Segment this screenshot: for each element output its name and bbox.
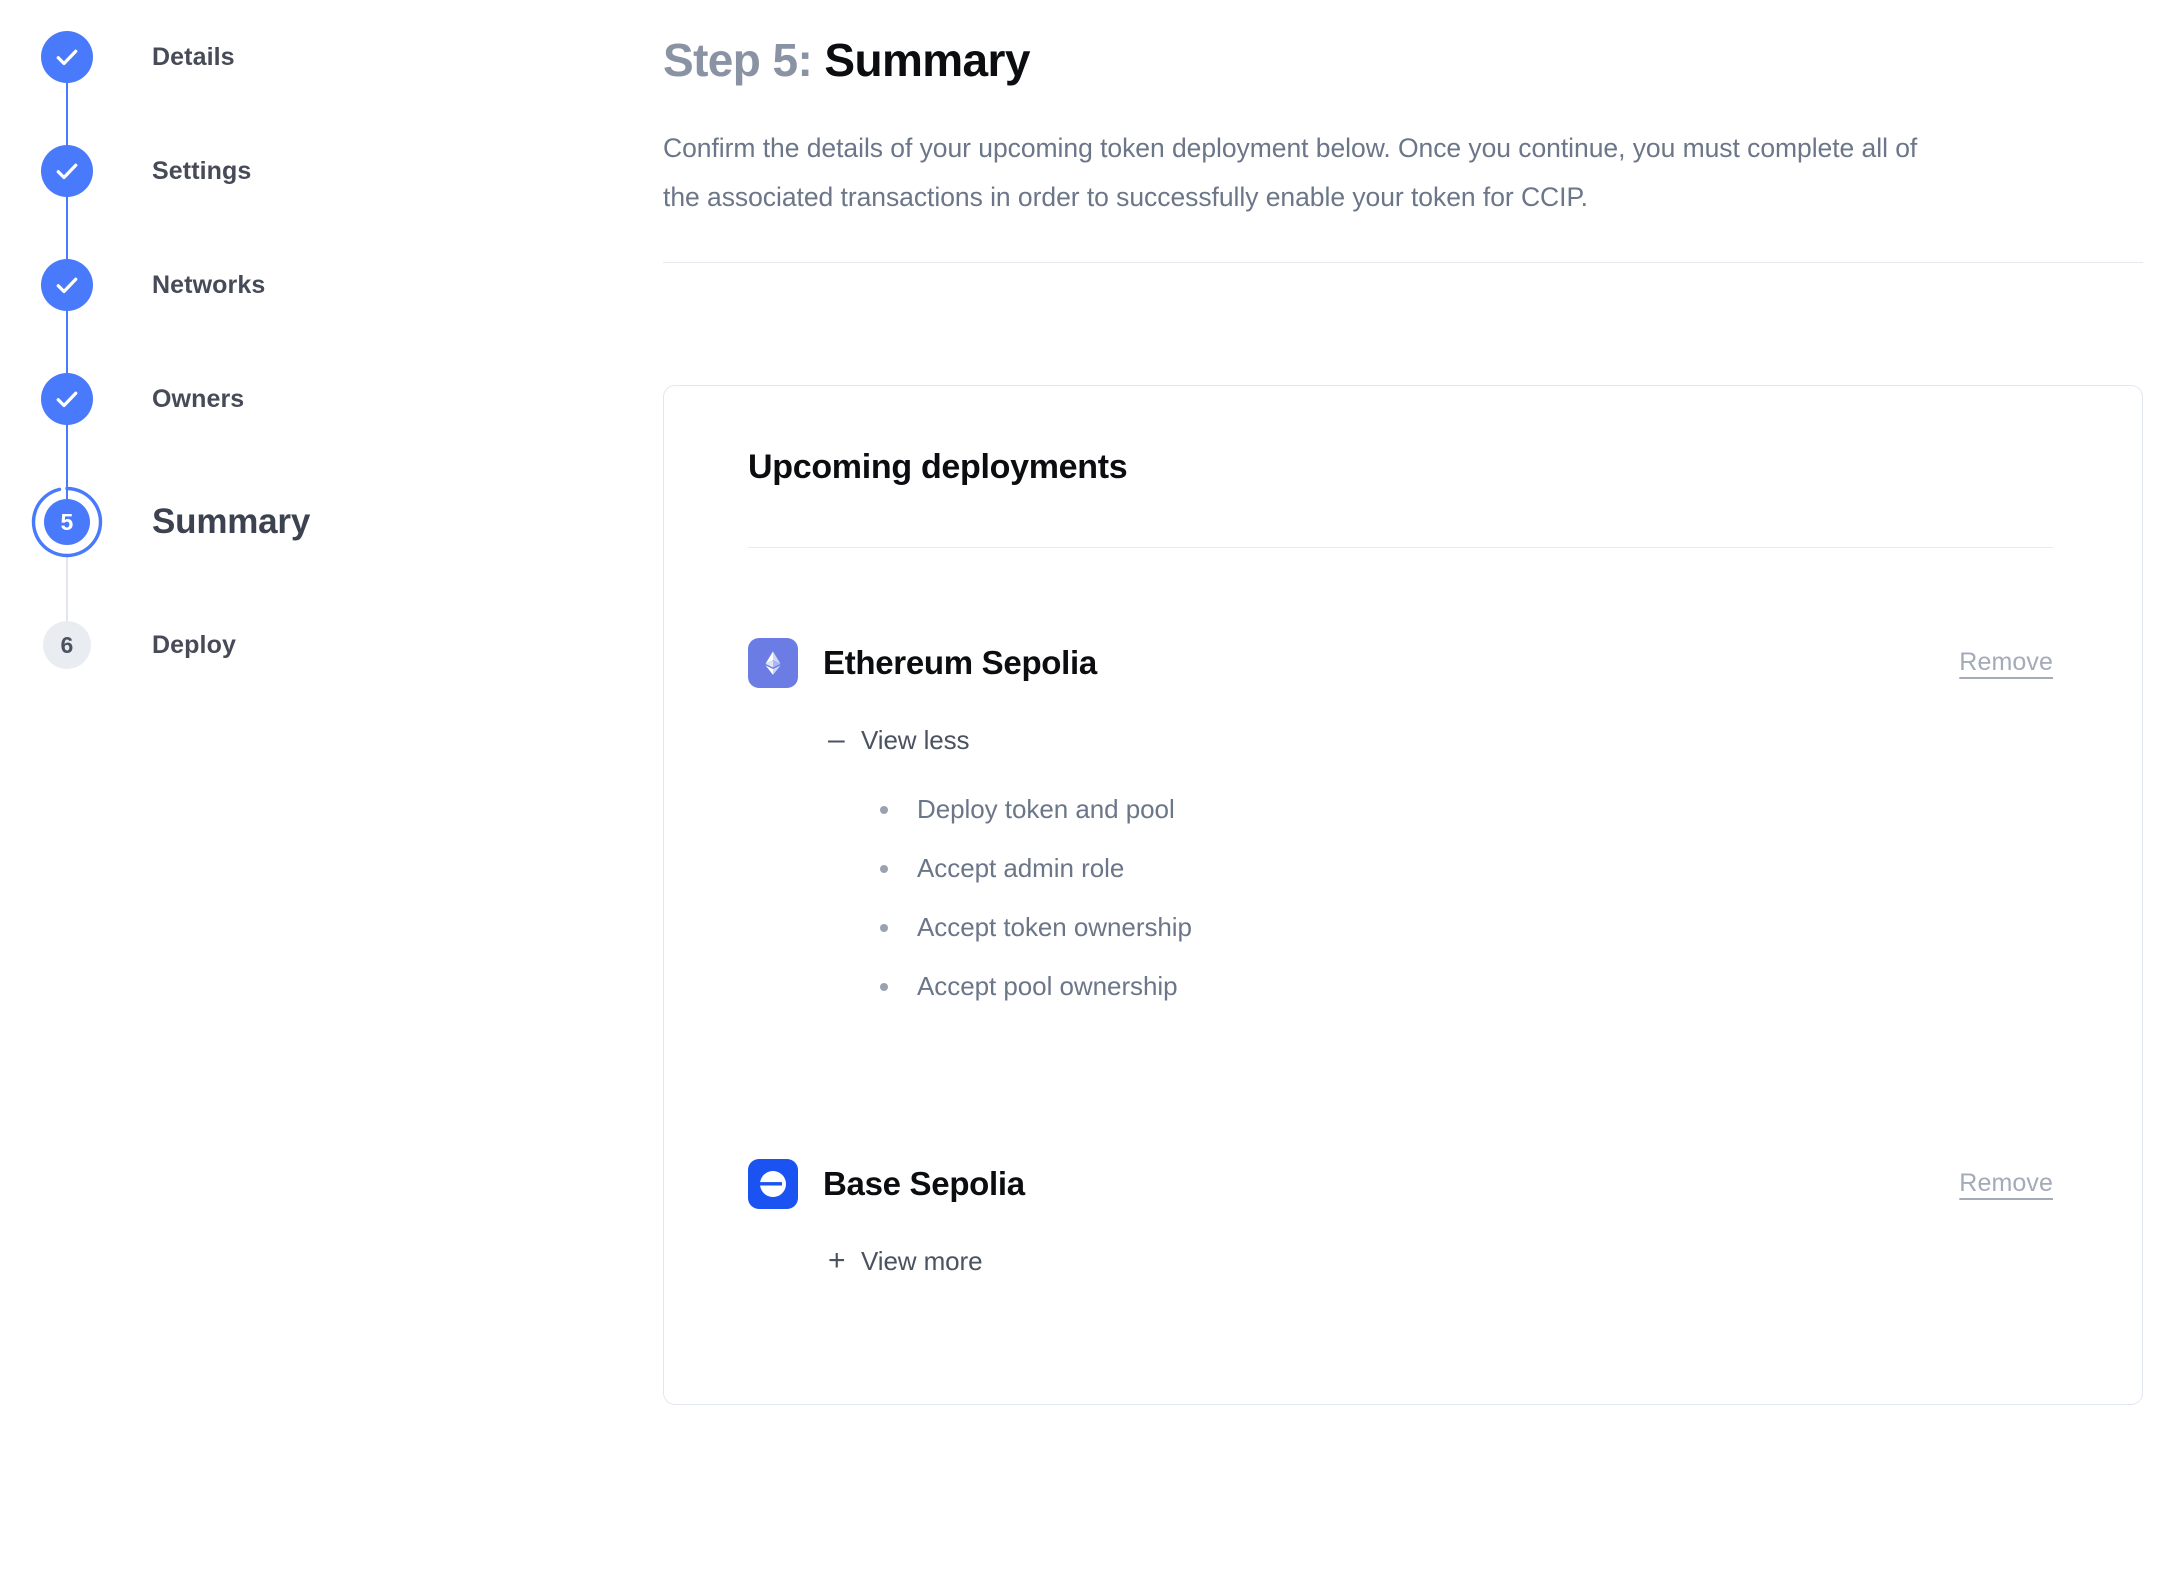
stepper-label-deploy: Deploy xyxy=(104,631,236,660)
list-item: Deploy token and pool xyxy=(873,796,2058,822)
network-name: Base Sepolia xyxy=(823,1165,1025,1203)
list-item: Accept pool ownership xyxy=(873,973,2058,999)
main-content: Step 5: Summary Confirm the details of y… xyxy=(663,0,2143,1405)
stepper-marker-owners xyxy=(30,342,104,456)
remove-network-button[interactable]: Remove xyxy=(1959,648,2053,677)
page-title: Step 5: Summary xyxy=(663,32,2143,90)
plus-icon: + xyxy=(828,1246,858,1276)
stepper-marker-details xyxy=(30,0,104,114)
stepper-item-settings[interactable]: Settings xyxy=(30,114,610,228)
summary-page: Details Settings xyxy=(0,0,2160,1580)
stepper-label-settings: Settings xyxy=(104,157,251,186)
stepper-label-owners: Owners xyxy=(104,385,244,414)
header-divider xyxy=(663,262,2143,263)
ethereum-icon xyxy=(748,638,798,688)
network-name: Ethereum Sepolia xyxy=(823,644,1097,682)
stepper-item-owners[interactable]: Owners xyxy=(30,342,610,456)
network-block-base-sepolia: Base Sepolia Remove + View more xyxy=(748,1159,2058,1277)
deployment-task-list: Deploy token and pool Accept admin role … xyxy=(873,796,2058,999)
card-divider xyxy=(748,547,2053,548)
stepper-label-summary: Summary xyxy=(104,502,310,542)
check-circle-icon xyxy=(41,373,93,425)
page-title-text: Summary xyxy=(824,34,1029,86)
stepper-item-networks[interactable]: Networks xyxy=(30,228,610,342)
check-circle-icon xyxy=(41,31,93,83)
step-number-circle: 6 xyxy=(43,621,91,669)
list-item: Accept admin role xyxy=(873,855,2058,881)
wizard-stepper: Details Settings xyxy=(30,0,610,702)
upcoming-deployments-card: Upcoming deployments xyxy=(663,385,2143,1405)
stepper-marker-settings xyxy=(30,114,104,228)
stepper-marker-networks xyxy=(30,228,104,342)
list-item: Accept token ownership xyxy=(873,914,2058,940)
check-circle-icon xyxy=(41,259,93,311)
stepper-item-details[interactable]: Details xyxy=(30,0,610,114)
toggle-label: View more xyxy=(861,1246,982,1277)
toggle-label: View less xyxy=(861,725,969,756)
stepper-label-details: Details xyxy=(104,43,235,72)
stepper-item-summary[interactable]: 5 Summary xyxy=(30,456,610,588)
base-icon xyxy=(748,1159,798,1209)
check-circle-icon xyxy=(41,145,93,197)
network-header: Ethereum Sepolia Remove xyxy=(748,638,2053,688)
stepper-marker-summary: 5 xyxy=(30,456,104,588)
minus-icon: – xyxy=(828,725,858,755)
page-description: Confirm the details of your upcoming tok… xyxy=(663,124,1953,222)
remove-network-button[interactable]: Remove xyxy=(1959,1169,2053,1198)
toggle-view-more-button[interactable]: + View more xyxy=(828,1246,982,1277)
stepper-item-deploy[interactable]: 6 Deploy xyxy=(30,588,610,702)
step-number: 6 xyxy=(61,634,74,657)
stepper-label-networks: Networks xyxy=(104,271,265,300)
page-title-step-prefix: Step 5: xyxy=(663,34,812,86)
toggle-view-less-button[interactable]: – View less xyxy=(828,725,969,756)
step-number-circle: 5 xyxy=(44,499,90,545)
network-header: Base Sepolia Remove xyxy=(748,1159,2053,1209)
stepper-marker-deploy: 6 xyxy=(30,588,104,702)
card-title: Upcoming deployments xyxy=(748,448,2058,487)
network-block-ethereum-sepolia: Ethereum Sepolia Remove – View less Depl… xyxy=(748,638,2058,999)
step-number: 5 xyxy=(61,511,74,534)
